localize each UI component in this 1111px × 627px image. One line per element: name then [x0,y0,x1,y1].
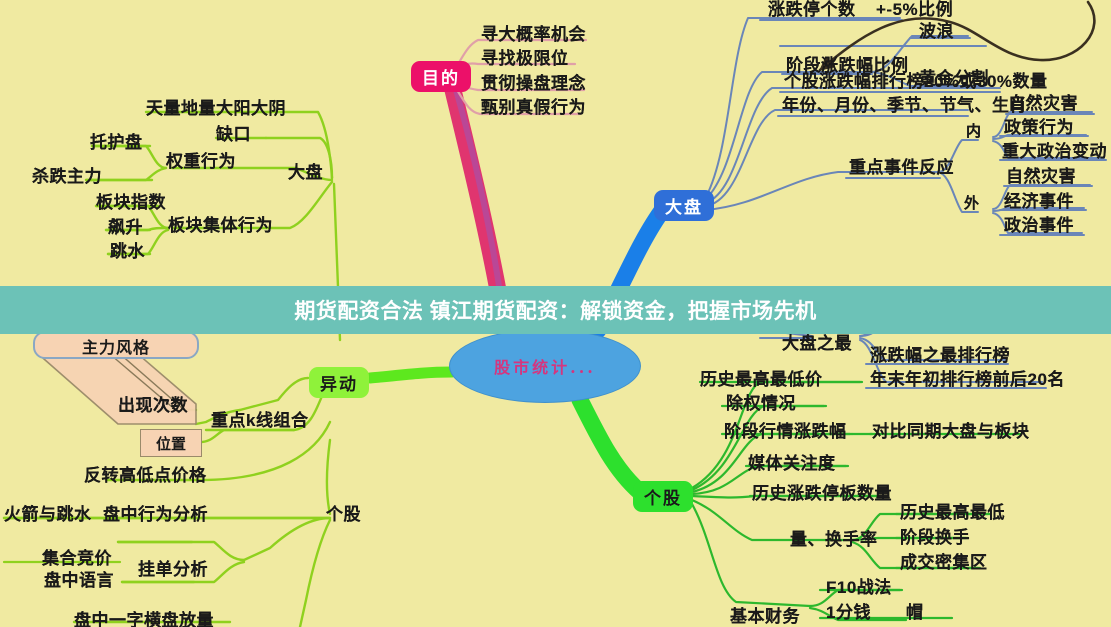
callout-main-force-style[interactable]: 主力风格 [33,331,199,359]
leaf-occurrence-count[interactable]: 出现次数 [118,396,188,416]
leaf-market-most-2[interactable]: 涨跌幅之最排行榜 [870,346,1010,366]
leaf-stock-right-3[interactable]: 对比同期大盘与板块 [872,422,1030,442]
leaf-stock-right-4[interactable]: 媒体关注度 [748,454,836,474]
leaf-internal-0[interactable]: 自然灾害 [1008,94,1078,114]
leaf-external-2[interactable]: 政治事件 [1004,216,1074,236]
leaf-rank-20-30[interactable]: 个股涨跌幅排行榜20%或30%数量 [784,72,1048,92]
central-node[interactable]: 股市统计... [449,329,641,403]
node-market-blue-label: 大盘 [665,198,703,217]
leaf-internal-1[interactable]: 政策行为 [1004,118,1074,138]
leaf-calendar[interactable]: 年份、月份、季节、节气、生肖 [782,96,1027,116]
leaf-purpose-1[interactable]: 寻找极限位 [481,49,569,69]
leaf-market-left-4[interactable]: 杀跌主力 [32,167,102,187]
leaf-stock-left-3[interactable]: 集合竞价 [42,549,112,569]
node-anomaly[interactable]: 异动 [309,367,369,398]
callout-main-force-style-label: 主力风格 [35,334,197,358]
box-position-label: 位置 [141,433,201,454]
node-stock-green-label: 个股 [644,489,682,508]
leaf-purpose-0[interactable]: 寻大概率机会 [481,25,586,45]
overlay-banner: 期货配资合法 镇江期货配资：解锁资金，把握市场先机 [0,286,1111,334]
leaf-market-left-5[interactable]: 板块集体行为 [168,216,273,236]
leaf-market-left-8[interactable]: 跳水 [110,242,145,262]
leaf-pct5-ratio[interactable]: +-5%比例 [876,0,953,20]
leaf-wave[interactable]: 波浪 [919,22,954,42]
node-stock-green[interactable]: 个股 [633,481,693,512]
leaf-finance-label[interactable]: 基本财务 [730,607,800,627]
node-market-blue[interactable]: 大盘 [654,190,714,221]
leaf-external-label[interactable]: 外 [964,194,980,214]
leaf-turnover-1[interactable]: 阶段换手 [900,528,970,548]
leaf-purpose-2[interactable]: 贯彻操盘理念 [481,74,586,94]
central-node-label: 股市统计... [494,354,596,378]
leaf-stock-right-5[interactable]: 历史涨跌停板数量 [752,484,892,504]
leaf-market-left-0[interactable]: 天量地量大阳大阴 [146,99,286,119]
node-purpose[interactable]: 目的 [411,61,471,92]
leaf-turnover-0[interactable]: 历史最高最低 [900,503,1005,523]
box-position[interactable]: 位置 [140,429,202,457]
overlay-banner-text: 期货配资合法 镇江期货配资：解锁资金，把握市场先机 [294,295,816,325]
node-anomaly-label: 异动 [320,375,358,394]
leaf-limit-count[interactable]: 涨跌停个数 [768,0,856,20]
leaf-stock-left-2[interactable]: 挂单分析 [138,560,208,580]
leaf-stock-right-0[interactable]: 历史最高最低价 [700,370,823,390]
leaf-key-events[interactable]: 重点事件反应 [849,158,954,178]
leaf-market-most-3[interactable]: 年末年初排行榜前后20名 [870,370,1065,390]
leaf-stock-left-4[interactable]: 盘中语言 [44,571,114,591]
leaf-finance-1[interactable]: 1分钱 [826,603,871,623]
leaf-market-left-2[interactable]: 权重行为 [166,152,236,172]
leaf-market-left-7[interactable]: 飙升 [108,218,143,238]
leaf-stock-left-5[interactable]: 盘中一字横盘放量 [74,611,214,627]
leaf-stock-right-1[interactable]: 除权情况 [726,394,796,414]
leaf-market-left-6[interactable]: 板块指数 [96,193,166,213]
leaf-market-most[interactable]: 大盘之最 [782,334,852,354]
leaf-internal-label[interactable]: 内 [966,122,982,142]
leaf-stock-left-label[interactable]: 个股 [326,505,361,525]
leaf-internal-2[interactable]: 重大政治变动 [1002,142,1107,162]
leaf-turnover-2[interactable]: 成交密集区 [900,553,988,573]
leaf-finance-0[interactable]: F10战法 [826,578,892,598]
leaf-market-left-3[interactable]: 托护盘 [90,133,143,153]
leaf-reversal-price[interactable]: 反转高低点价格 [84,466,207,486]
leaf-purpose-3[interactable]: 甄别真假行为 [481,98,586,118]
leaf-market-left-label[interactable]: 大盘 [288,163,323,183]
leaf-external-1[interactable]: 经济事件 [1004,192,1074,212]
leaf-turnover-label[interactable]: 量、换手率 [790,530,878,550]
leaf-stock-left-1[interactable]: 盘中行为分析 [103,505,208,525]
leaf-external-0[interactable]: 自然灾害 [1006,167,1076,187]
leaf-finance-2[interactable]: 帽 [906,603,924,623]
leaf-kline-combo[interactable]: 重点k线组合 [211,411,308,431]
leaf-stock-left-0[interactable]: 火箭与跳水 [4,505,92,525]
mindmap-canvas: 股市统计... 目的 大盘 异动 个股 寻大概率机会 寻找极限位 贯彻操盘理念 … [0,0,1111,627]
node-purpose-label: 目的 [422,69,460,88]
leaf-market-left-1[interactable]: 缺口 [216,125,251,145]
leaf-stock-right-2[interactable]: 阶段行情涨跌幅 [724,422,847,442]
